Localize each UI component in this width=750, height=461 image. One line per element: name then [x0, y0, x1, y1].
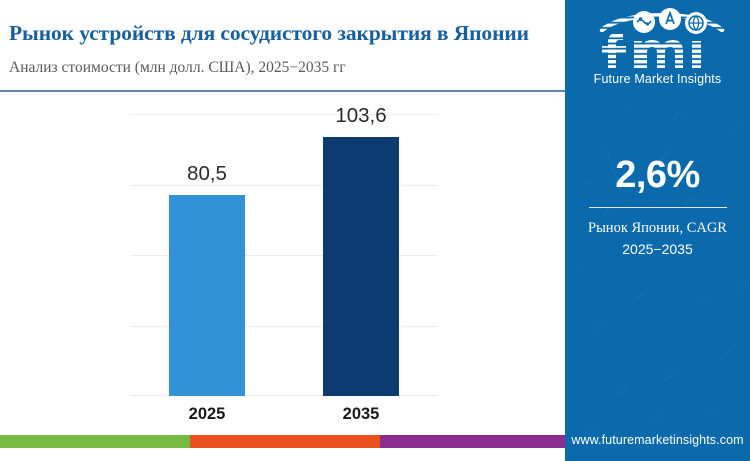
- page-title: Рынок устройств для сосудистого закрытия…: [9, 21, 529, 46]
- chart-header: Рынок устройств для сосудистого закрытия…: [0, 0, 565, 92]
- bar-chart: 80,52025103,62035: [0, 92, 565, 448]
- bar-value-label-2025: 80,5: [187, 162, 227, 186]
- cagr-divider: [589, 207, 727, 208]
- bar-2025[interactable]: [169, 195, 245, 396]
- bottom-color-strip: [0, 435, 565, 448]
- bar-group-2025: 80,52025: [130, 114, 284, 396]
- fmi-logo-tagline: Future Market Insights: [565, 72, 750, 86]
- cagr-label-market: Рынок Японии, CAGR: [565, 217, 750, 239]
- infographic-page: Рынок устройств для сосудистого закрытия…: [0, 0, 750, 461]
- cagr-value: 2,6%: [565, 156, 750, 196]
- website-url: www.futuremarketinsights.com: [565, 433, 750, 447]
- fmi-logo-mark: [582, 8, 734, 70]
- strip-segment-green: [0, 435, 190, 448]
- cagr-label-period: 2025−2035: [565, 239, 750, 261]
- x-axis-label-2025: 2025: [189, 405, 226, 424]
- bar-2035[interactable]: [323, 137, 399, 396]
- bar-value-label-2035: 103,6: [335, 104, 386, 128]
- side-panel: Future Market Insights 2,6% Рынок Японии…: [565, 0, 750, 461]
- main-content-area: Рынок устройств для сосудистого закрытия…: [0, 0, 565, 448]
- x-axis-label-2035: 2035: [343, 405, 380, 424]
- page-subtitle: Анализ стоимости (млн долл. США), 2025−2…: [9, 59, 346, 77]
- bar-group-2035: 103,62035: [284, 114, 438, 396]
- fmi-logo: Future Market Insights: [565, 8, 750, 86]
- cagr-block: 2,6% Рынок Японии, CAGR 2025−2035: [565, 156, 750, 261]
- strip-segment-orange: [190, 435, 380, 448]
- chart-plot-area: 80,52025103,62035: [130, 114, 438, 396]
- strip-segment-purple: [380, 435, 565, 448]
